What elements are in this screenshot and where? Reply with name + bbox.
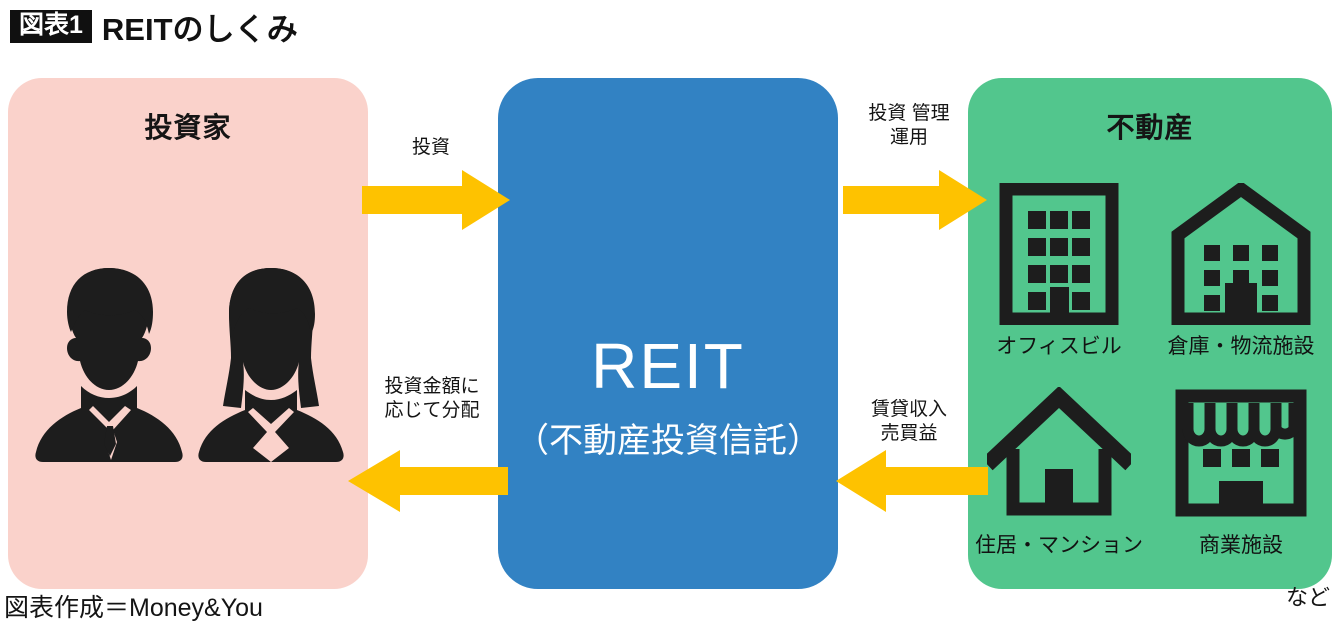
property-label-office: オフィスビル	[996, 330, 1122, 360]
property-item-office: オフィスビル	[968, 180, 1150, 373]
etc-note: など	[1286, 580, 1330, 612]
warehouse-building-icon	[1171, 180, 1311, 328]
investor-avatars	[30, 262, 350, 462]
flow-label-manage-line2: 運用	[845, 126, 973, 150]
property-label-warehouse: 倉庫・物流施設	[1168, 330, 1315, 360]
flow-label-dividend-line1: 投資金額に	[366, 375, 498, 399]
arrow-manage-right	[843, 170, 987, 230]
flow-label-dividend: 投資金額に 応じて分配	[366, 375, 498, 424]
office-building-icon	[998, 180, 1120, 328]
property-label-house: 住居・マンション	[975, 529, 1143, 559]
property-item-warehouse: 倉庫・物流施設	[1150, 180, 1332, 373]
house-icon	[987, 379, 1131, 527]
figure-number-badge: 図表1	[10, 10, 92, 44]
flow-label-invest: 投資	[369, 136, 493, 160]
property-item-shop: 商業施設	[1150, 379, 1332, 572]
reit-title: REIT	[498, 334, 838, 398]
figure-title-text: REITのしくみ	[102, 4, 298, 49]
property-item-house: 住居・マンション	[968, 379, 1150, 572]
property-icon-grid: オフィスビル	[968, 180, 1332, 572]
real-estate-panel-heading: 不動産	[968, 106, 1332, 146]
flow-label-dividend-line2: 応じて分配	[366, 399, 498, 423]
flow-label-rental-income: 賃貸収入 売買益	[845, 398, 973, 447]
shop-icon	[1175, 379, 1307, 527]
female-investor-avatar	[193, 266, 349, 462]
male-investor-avatar	[31, 266, 187, 462]
arrow-rental-income-left	[836, 450, 988, 512]
chart-credit: 図表作成＝Money&You	[4, 588, 263, 624]
flow-label-manage-line1: 投資 管理	[845, 102, 973, 126]
arrow-invest-right	[362, 170, 510, 230]
flow-label-rental-income-line2: 売買益	[845, 422, 973, 446]
diagram-canvas: 図表1 REITのしくみ 投資家 REIT	[0, 0, 1340, 622]
property-label-shop: 商業施設	[1199, 529, 1283, 559]
reit-panel: REIT （不動産投資信託）	[498, 78, 838, 589]
investors-panel-heading: 投資家	[8, 106, 368, 146]
flow-label-invest-line1: 投資	[369, 136, 493, 160]
reit-subtitle: （不動産投資信託）	[498, 424, 838, 458]
flow-label-rental-income-line1: 賃貸収入	[845, 398, 973, 422]
arrow-dividend-left	[348, 450, 508, 512]
flow-label-manage: 投資 管理 運用	[845, 102, 973, 151]
page-title: 図表1 REITのしくみ	[10, 4, 298, 49]
